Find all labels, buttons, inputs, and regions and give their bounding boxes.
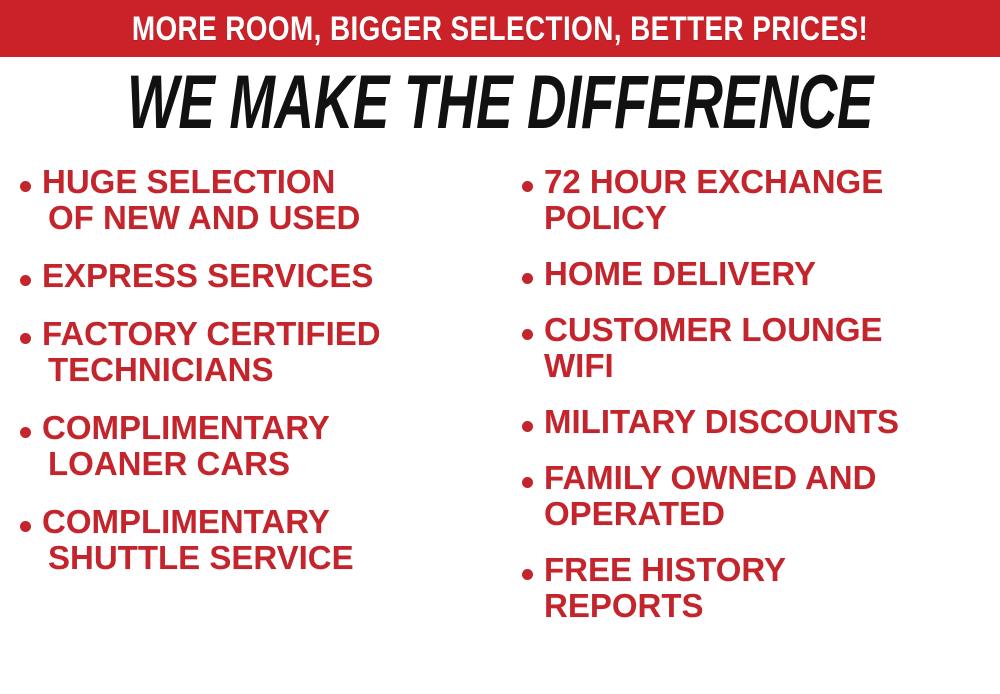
bullet-dot-icon: [522, 421, 533, 432]
bullet-dot-icon: [522, 181, 533, 192]
list-item-label: FAMILY OWNED ANDOPERATED: [544, 460, 876, 532]
list-item: FREE HISTORYREPORTS: [522, 552, 1000, 624]
list-item-label: FREE HISTORYREPORTS: [544, 552, 786, 624]
list-item: COMPLIMENTARYLOANER CARS: [20, 410, 500, 482]
bullet-dot-icon: [522, 477, 533, 488]
benefits-column-left: HUGE SELECTIONOF NEW AND USED EXPRESS SE…: [0, 152, 500, 694]
list-item-label: COMPLIMENTARYSHUTTLE SERVICE: [42, 504, 354, 576]
bullet-dot-icon: [522, 569, 533, 580]
bullet-dot-icon: [20, 181, 31, 192]
list-item-label: 72 HOUR EXCHANGEPOLICY: [544, 164, 883, 236]
list-item-label: HOME DELIVERY: [544, 256, 816, 292]
list-item-label: CUSTOMER LOUNGEWIFI: [544, 312, 883, 384]
bullet-dot-icon: [522, 329, 533, 340]
list-item: FACTORY CERTIFIEDTECHNICIANS: [20, 316, 500, 388]
list-item: CUSTOMER LOUNGEWIFI: [522, 312, 1000, 384]
headline-container: WE MAKE THE DIFFERENCE: [0, 62, 1000, 144]
top-banner: MORE ROOM, BIGGER SELECTION, BETTER PRIC…: [0, 0, 1000, 57]
bullet-dot-icon: [522, 273, 533, 284]
list-item: MILITARY DISCOUNTS: [522, 404, 1000, 440]
banner-headline-text: MORE ROOM, BIGGER SELECTION, BETTER PRIC…: [132, 12, 868, 46]
list-item: FAMILY OWNED ANDOPERATED: [522, 460, 1000, 532]
bullet-dot-icon: [20, 427, 31, 438]
list-item-label: FACTORY CERTIFIEDTECHNICIANS: [42, 316, 381, 388]
list-item: EXPRESS SERVICES: [20, 258, 500, 294]
list-item: 72 HOUR EXCHANGEPOLICY: [522, 164, 1000, 236]
list-item: HUGE SELECTIONOF NEW AND USED: [20, 164, 500, 236]
list-item-label: COMPLIMENTARYLOANER CARS: [42, 410, 330, 482]
bullet-dot-icon: [20, 521, 31, 532]
benefits-column-right: 72 HOUR EXCHANGEPOLICY HOME DELIVERY CUS…: [500, 152, 1000, 694]
list-item: COMPLIMENTARYSHUTTLE SERVICE: [20, 504, 500, 576]
list-item-label: HUGE SELECTIONOF NEW AND USED: [42, 164, 360, 236]
list-item-label: EXPRESS SERVICES: [42, 258, 373, 294]
list-item-label: MILITARY DISCOUNTS: [544, 404, 899, 440]
list-item: HOME DELIVERY: [522, 256, 1000, 292]
page-title: WE MAKE THE DIFFERENCE: [127, 65, 873, 141]
benefits-columns: HUGE SELECTIONOF NEW AND USED EXPRESS SE…: [0, 152, 1000, 694]
promo-poster: MORE ROOM, BIGGER SELECTION, BETTER PRIC…: [0, 0, 1000, 694]
bullet-dot-icon: [20, 275, 31, 286]
bullet-dot-icon: [20, 333, 31, 344]
